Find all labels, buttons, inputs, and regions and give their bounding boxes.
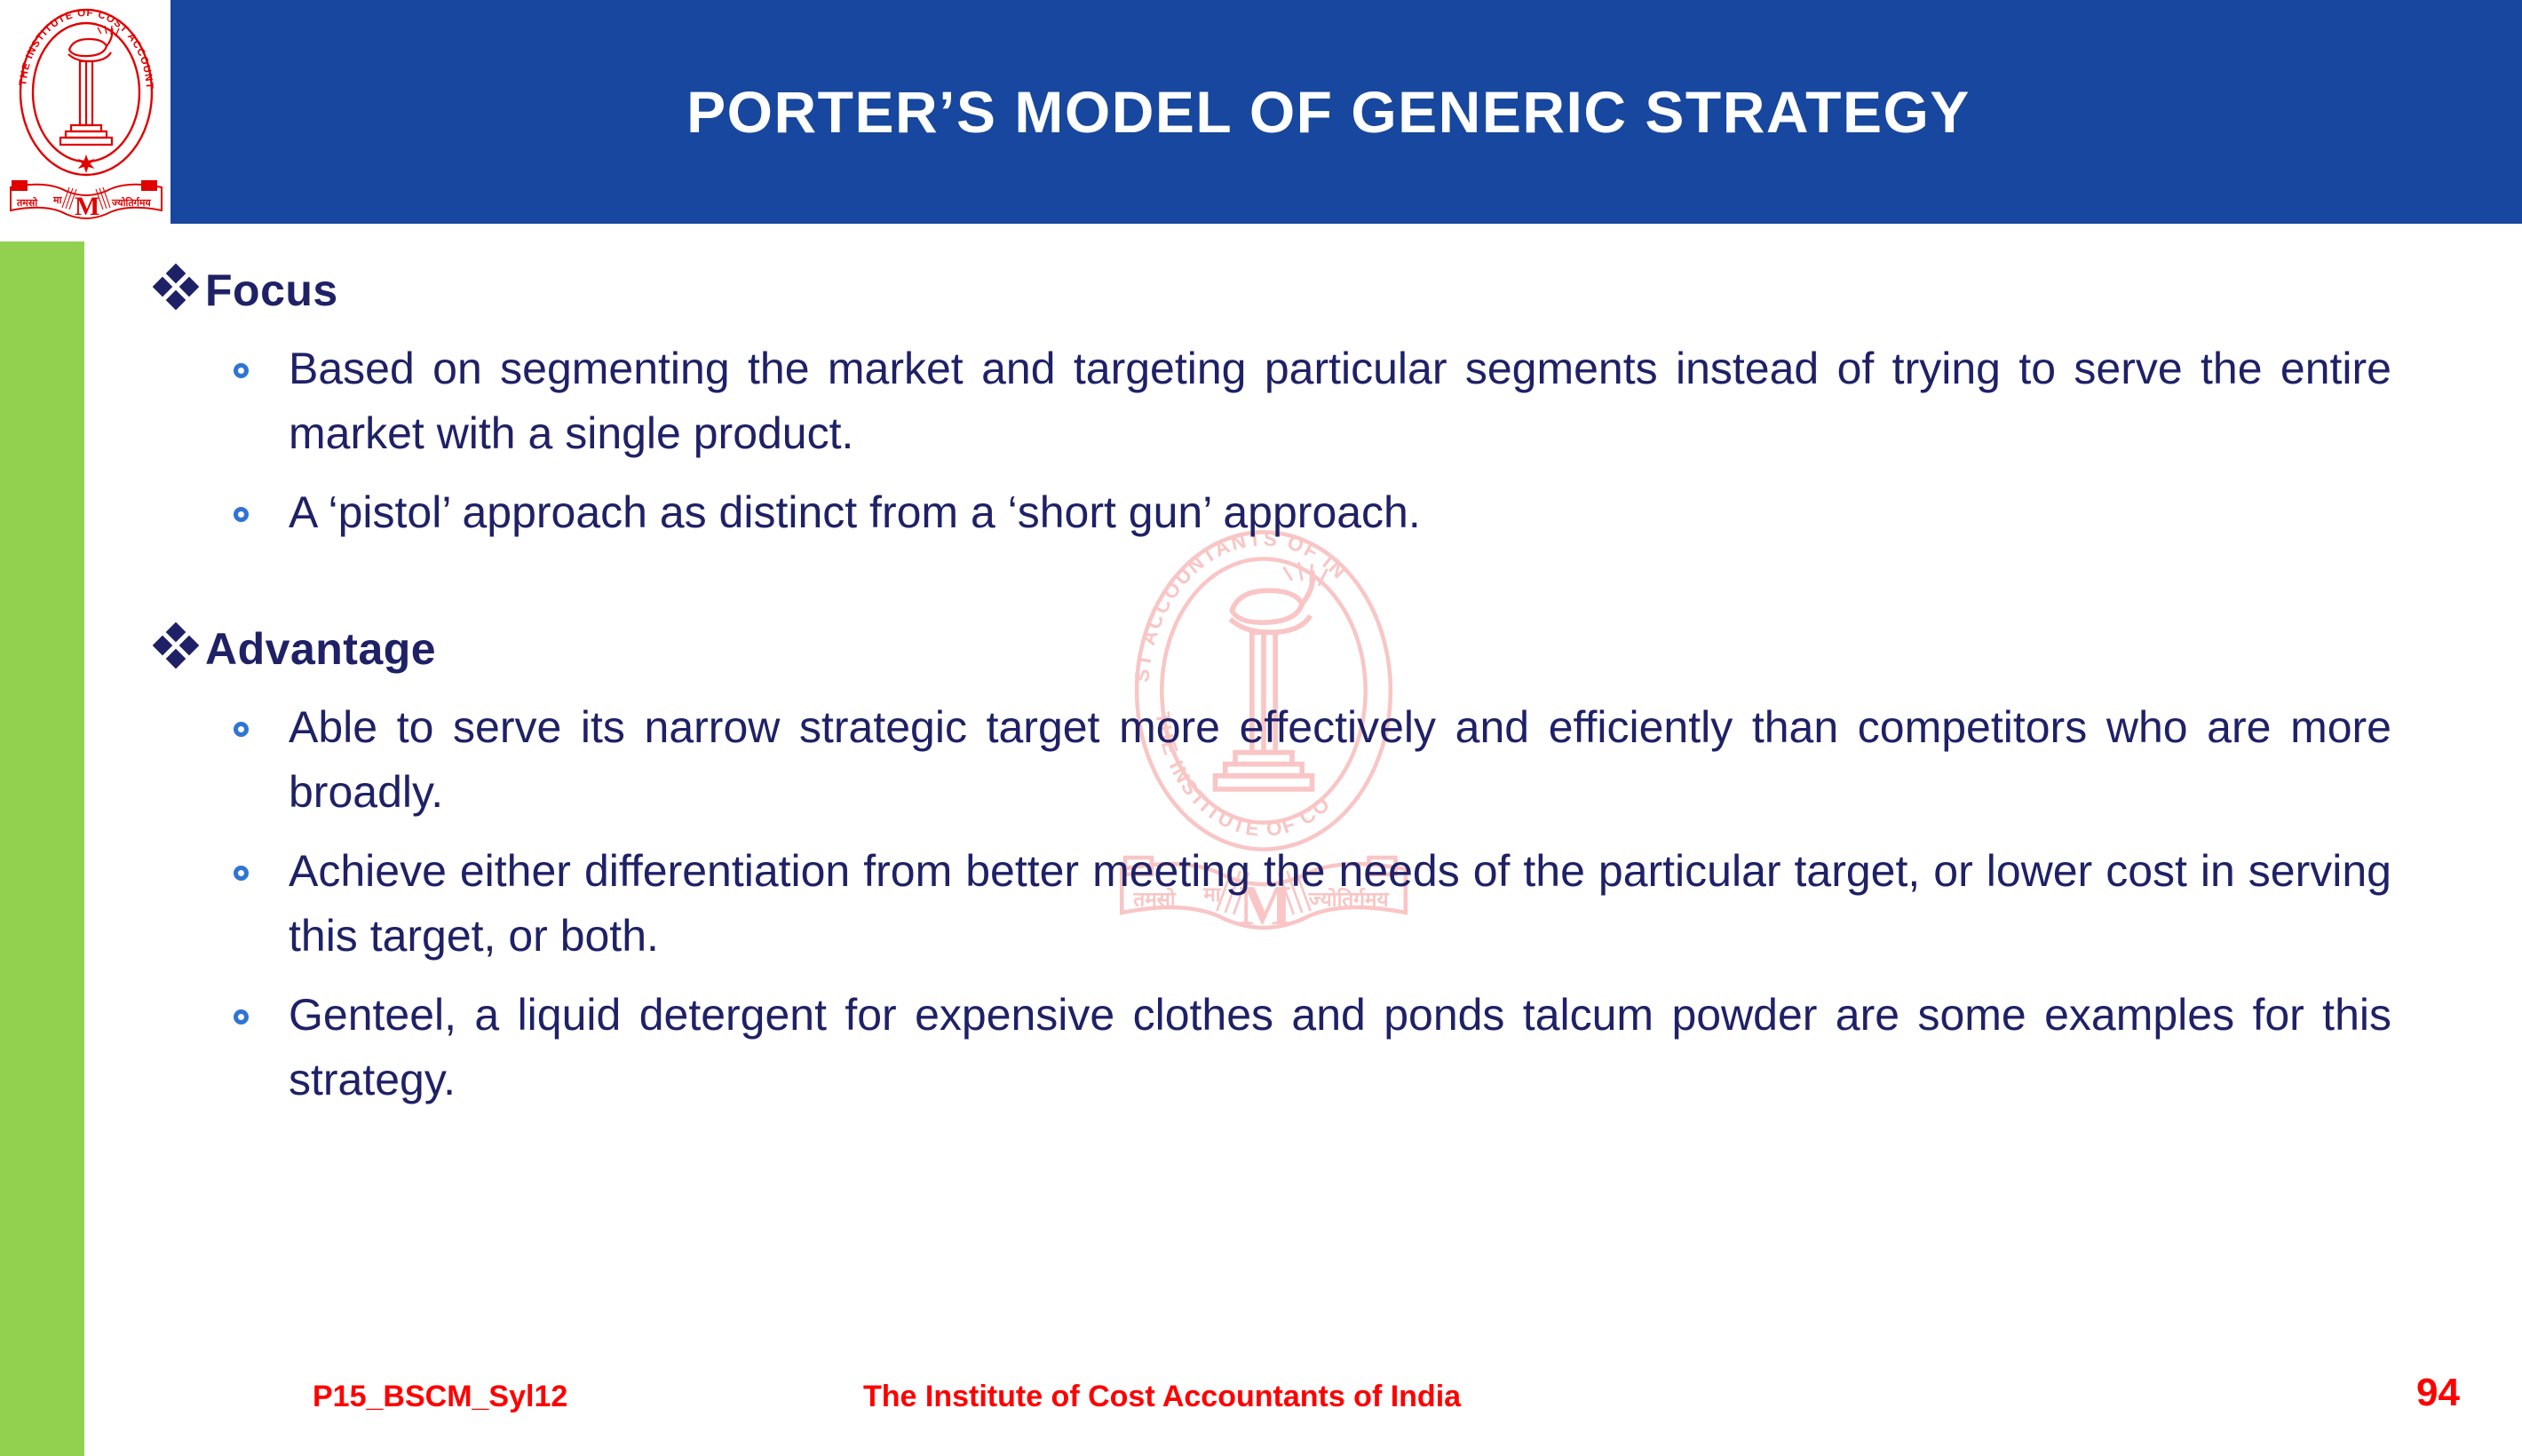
slide-root: THE INSTITUTE OF COST ACCOUNTANTS OF IND… bbox=[0, 0, 2522, 1456]
section-heading-label: Focus bbox=[205, 263, 338, 318]
page-title: PORTER’S MODEL OF GENERIC STRATEGY bbox=[686, 83, 1971, 141]
slide-body: Focus Based on segmenting the market and… bbox=[84, 241, 2522, 1360]
bullet-text: Based on segmenting the market and targe… bbox=[289, 336, 2391, 466]
bullet-item: Achieve either differentiation from bett… bbox=[234, 839, 2391, 969]
bullet-text: Able to serve its narrow strategic targe… bbox=[289, 695, 2391, 825]
bullet-item: A ‘pistol’ approach as distinct from a ‘… bbox=[234, 480, 2391, 545]
green-accent-bar bbox=[0, 241, 84, 1456]
icai-logo: THE INSTITUTE OF COST ACCOUNTANTS OF IND… bbox=[7, 4, 165, 226]
diamond-cluster-bullet-icon bbox=[155, 266, 205, 322]
bullet-text: Achieve either differentiation from bett… bbox=[289, 839, 2391, 969]
svg-text:M: M bbox=[75, 192, 99, 221]
footer-course-code: P15_BSCM_Syl12 bbox=[313, 1380, 567, 1414]
page-number: 94 bbox=[2416, 1371, 2460, 1415]
section-spacer bbox=[84, 545, 2522, 600]
bullet-text: Genteel, a liquid detergent for expensiv… bbox=[289, 983, 2391, 1112]
ring-bullet-icon bbox=[234, 839, 289, 881]
bullet-item: Able to serve its narrow strategic targe… bbox=[234, 695, 2391, 825]
slide-header-bar: PORTER’S MODEL OF GENERIC STRATEGY bbox=[171, 0, 2522, 224]
section-heading-focus: Focus bbox=[155, 263, 2522, 322]
slide-footer: P15_BSCM_Syl12 The Institute of Cost Acc… bbox=[84, 1360, 2522, 1456]
section-heading-label: Advantage bbox=[205, 621, 436, 677]
svg-text:ज्योतिर्गमय: ज्योतिर्गमय bbox=[111, 196, 151, 209]
svg-text:मा: मा bbox=[52, 195, 63, 206]
bullet-item: Based on segmenting the market and targe… bbox=[234, 336, 2391, 466]
bullet-text: A ‘pistol’ approach as distinct from a ‘… bbox=[289, 480, 2391, 545]
svg-text:तमसो: तमसो bbox=[16, 196, 38, 209]
section-heading-advantage: Advantage bbox=[155, 621, 2522, 681]
ring-bullet-icon bbox=[234, 480, 289, 522]
diamond-cluster-bullet-icon bbox=[155, 625, 205, 681]
ring-bullet-icon bbox=[234, 983, 289, 1025]
footer-institute-name: The Institute of Cost Accountants of Ind… bbox=[863, 1380, 1461, 1414]
ring-bullet-icon bbox=[234, 695, 289, 737]
ring-bullet-icon bbox=[234, 336, 289, 378]
bullet-item: Genteel, a liquid detergent for expensiv… bbox=[234, 983, 2391, 1112]
